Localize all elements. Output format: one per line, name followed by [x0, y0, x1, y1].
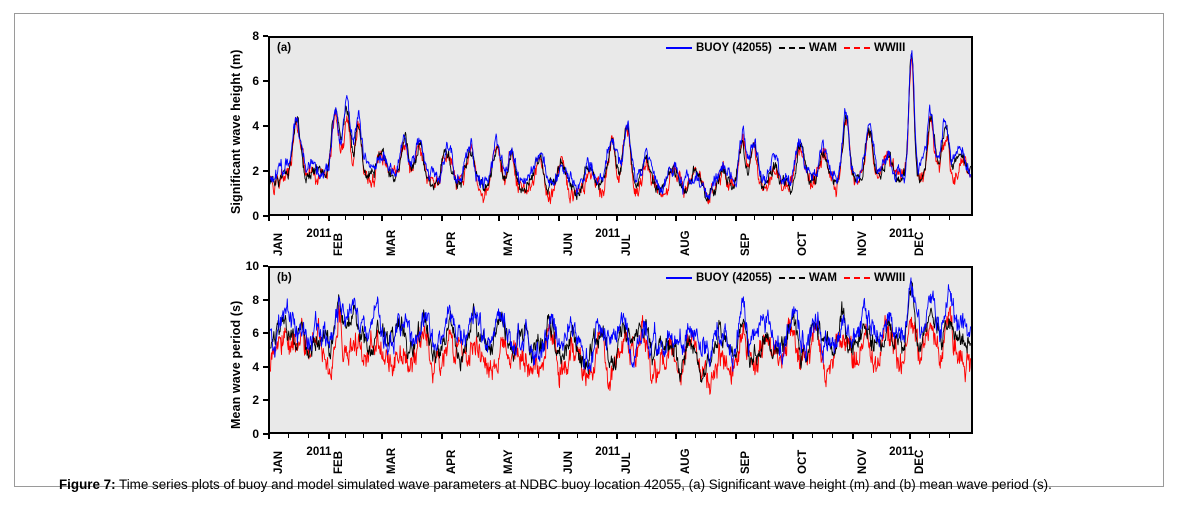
- figure-caption-label: Figure 7:: [59, 477, 116, 492]
- x-tick-mark-minor: [421, 216, 422, 220]
- panel-b-plot-area: [268, 266, 973, 434]
- x-tick-mark-major: [328, 434, 330, 439]
- x-tick-mark-minor: [871, 434, 872, 438]
- x-tick-mark-minor: [773, 434, 774, 438]
- x-tick-mark-minor: [538, 434, 539, 438]
- legend-swatch-icon: [844, 47, 870, 49]
- x-tick-mark-minor: [308, 216, 309, 220]
- y-tick-label: 10: [237, 259, 259, 273]
- x-tick-mark-minor: [288, 216, 289, 220]
- x-tick-mark-minor: [363, 434, 364, 438]
- x-tick-mark-major: [268, 216, 270, 221]
- x-axis-month-label: APR: [446, 450, 458, 474]
- x-axis-year-label: 2011: [306, 446, 331, 458]
- legend-entry-buoy-42055: BUOY (42055): [666, 272, 772, 284]
- x-tick-mark-minor: [949, 216, 950, 220]
- x-tick-mark-major: [498, 216, 500, 221]
- x-axis-year-label: 2011: [889, 228, 914, 240]
- legend-swatch-icon: [666, 277, 692, 279]
- x-tick-mark-minor: [479, 434, 480, 438]
- y-tick-label: 0: [237, 209, 259, 223]
- legend-label: WWIII: [874, 42, 905, 54]
- x-tick-mark-minor: [890, 434, 891, 438]
- x-tick-mark-minor: [577, 216, 578, 220]
- x-axis-month-label: NOV: [857, 449, 869, 474]
- x-axis-month-label: MAR: [386, 448, 398, 474]
- x-tick-mark-major: [852, 216, 854, 221]
- legend-entry-buoy-42055: BUOY (42055): [666, 42, 772, 54]
- x-axis-month-label: OCT: [797, 450, 809, 474]
- series-path-wwiii: [270, 58, 971, 204]
- x-axis-month-label: MAY: [503, 450, 515, 475]
- panel-b-series-canvas: [270, 268, 971, 432]
- x-tick-mark-minor: [871, 216, 872, 220]
- x-tick-mark-major: [909, 434, 911, 439]
- x-tick-mark-minor: [715, 216, 716, 220]
- x-axis-month-label: JAN: [273, 451, 285, 474]
- x-tick-mark-minor: [929, 434, 930, 438]
- x-tick-mark-minor: [890, 216, 891, 220]
- x-axis-month-label: FEB: [333, 451, 345, 474]
- x-axis-month-label: DEC: [914, 450, 926, 474]
- x-tick-mark-minor: [518, 434, 519, 438]
- x-axis-month-label: JUN: [563, 451, 575, 474]
- panel-b-x-axis: JANFEBMARAPRMAYJUNJULAUGSEPOCTNOVDEC2011…: [268, 434, 973, 482]
- x-tick-mark-minor: [401, 434, 402, 438]
- x-tick-mark-minor: [812, 434, 813, 438]
- legend-swatch-icon: [779, 277, 805, 279]
- y-tick-label: 6: [237, 326, 259, 340]
- x-tick-mark-minor: [345, 434, 346, 438]
- figure-caption-text: Time series plots of buoy and model simu…: [116, 477, 1052, 492]
- x-tick-mark-minor: [308, 434, 309, 438]
- x-tick-mark-minor: [288, 434, 289, 438]
- x-tick-mark-major: [675, 216, 677, 221]
- legend-entry-wwiii: WWIII: [844, 42, 905, 54]
- x-axis-year-label: 2011: [595, 446, 620, 458]
- legend-entry-wwiii: WWIII: [844, 272, 905, 284]
- x-tick-mark-minor: [715, 434, 716, 438]
- x-tick-mark-major: [909, 216, 911, 221]
- y-tick-label: 8: [237, 293, 259, 307]
- panel-significant-wave-height: Significant wave height (m) 02468 (a) BU…: [15, 14, 1165, 264]
- x-tick-mark-minor: [695, 216, 696, 220]
- x-tick-mark-major: [441, 216, 443, 221]
- x-tick-mark-minor: [363, 216, 364, 220]
- legend-label: BUOY (42055): [696, 42, 772, 54]
- x-tick-mark-major: [616, 434, 618, 439]
- x-tick-mark-minor: [655, 434, 656, 438]
- x-tick-mark-minor: [577, 434, 578, 438]
- panel-a-plot-area: [268, 36, 973, 216]
- x-tick-mark-minor: [401, 216, 402, 220]
- x-tick-mark-minor: [460, 434, 461, 438]
- x-tick-mark-major: [735, 434, 737, 439]
- panel-mean-wave-period: Mean wave period (s) 0246810 (b) BUOY (4…: [15, 244, 1165, 488]
- x-tick-mark-major: [852, 434, 854, 439]
- x-tick-mark-minor: [773, 216, 774, 220]
- x-axis-month-label: AUG: [680, 448, 692, 474]
- y-tick-label: 8: [237, 29, 259, 43]
- x-tick-mark-minor: [479, 216, 480, 220]
- y-tick-label: 4: [237, 360, 259, 374]
- x-tick-mark-minor: [949, 434, 950, 438]
- panel-b-tag: (b): [277, 272, 292, 284]
- x-tick-mark-major: [328, 216, 330, 221]
- x-tick-mark-major: [498, 434, 500, 439]
- legend-label: WAM: [809, 42, 837, 54]
- x-tick-mark-minor: [421, 434, 422, 438]
- panel-a-legend: BUOY (42055)WAMWWIII: [666, 42, 905, 54]
- panel-a-tag: (a): [277, 42, 291, 54]
- x-tick-mark-major: [268, 434, 270, 439]
- panel-b-legend: BUOY (42055)WAMWWIII: [666, 272, 905, 284]
- x-tick-mark-minor: [832, 216, 833, 220]
- panel-a-series-canvas: [270, 38, 971, 214]
- x-tick-mark-major: [735, 216, 737, 221]
- x-tick-mark-minor: [832, 434, 833, 438]
- x-tick-mark-minor: [655, 216, 656, 220]
- x-tick-mark-major: [441, 434, 443, 439]
- figure-container: Significant wave height (m) 02468 (a) BU…: [14, 13, 1164, 487]
- x-axis-year-label: 2011: [889, 446, 914, 458]
- y-tick-label: 2: [237, 164, 259, 178]
- x-tick-mark-major: [381, 216, 383, 221]
- x-tick-mark-minor: [754, 216, 755, 220]
- x-tick-mark-major: [558, 434, 560, 439]
- x-tick-mark-major: [381, 434, 383, 439]
- figure-caption: Figure 7: Time series plots of buoy and …: [59, 476, 1159, 493]
- x-tick-mark-minor: [596, 216, 597, 220]
- x-tick-mark-minor: [460, 216, 461, 220]
- x-tick-mark-major: [675, 434, 677, 439]
- legend-swatch-icon: [844, 277, 870, 279]
- legend-swatch-icon: [779, 47, 805, 49]
- x-tick-mark-major: [792, 434, 794, 439]
- x-tick-mark-minor: [635, 434, 636, 438]
- legend-label: BUOY (42055): [696, 272, 772, 284]
- x-tick-mark-major: [616, 216, 618, 221]
- x-tick-mark-minor: [812, 216, 813, 220]
- legend-label: WWIII: [874, 272, 905, 284]
- y-tick-label: 0: [237, 427, 259, 441]
- y-tick-label: 6: [237, 74, 259, 88]
- x-axis-month-label: JUL: [621, 452, 633, 474]
- legend-swatch-icon: [666, 47, 692, 49]
- y-tick-label: 2: [237, 393, 259, 407]
- y-tick-label: 4: [237, 119, 259, 133]
- legend-entry-wam: WAM: [779, 42, 837, 54]
- x-tick-mark-minor: [538, 216, 539, 220]
- x-tick-mark-minor: [596, 434, 597, 438]
- x-tick-mark-major: [558, 216, 560, 221]
- x-tick-mark-minor: [518, 216, 519, 220]
- x-axis-month-label: SEP: [740, 451, 752, 474]
- x-tick-mark-major: [792, 216, 794, 221]
- x-axis-year-label: 2011: [595, 228, 620, 240]
- x-tick-mark-minor: [929, 216, 930, 220]
- series-path-wwiii: [270, 305, 971, 394]
- x-tick-mark-minor: [695, 434, 696, 438]
- x-axis-year-label: 2011: [306, 228, 331, 240]
- x-tick-mark-minor: [345, 216, 346, 220]
- legend-entry-wam: WAM: [779, 272, 837, 284]
- x-tick-mark-minor: [635, 216, 636, 220]
- x-tick-mark-minor: [754, 434, 755, 438]
- legend-label: WAM: [809, 272, 837, 284]
